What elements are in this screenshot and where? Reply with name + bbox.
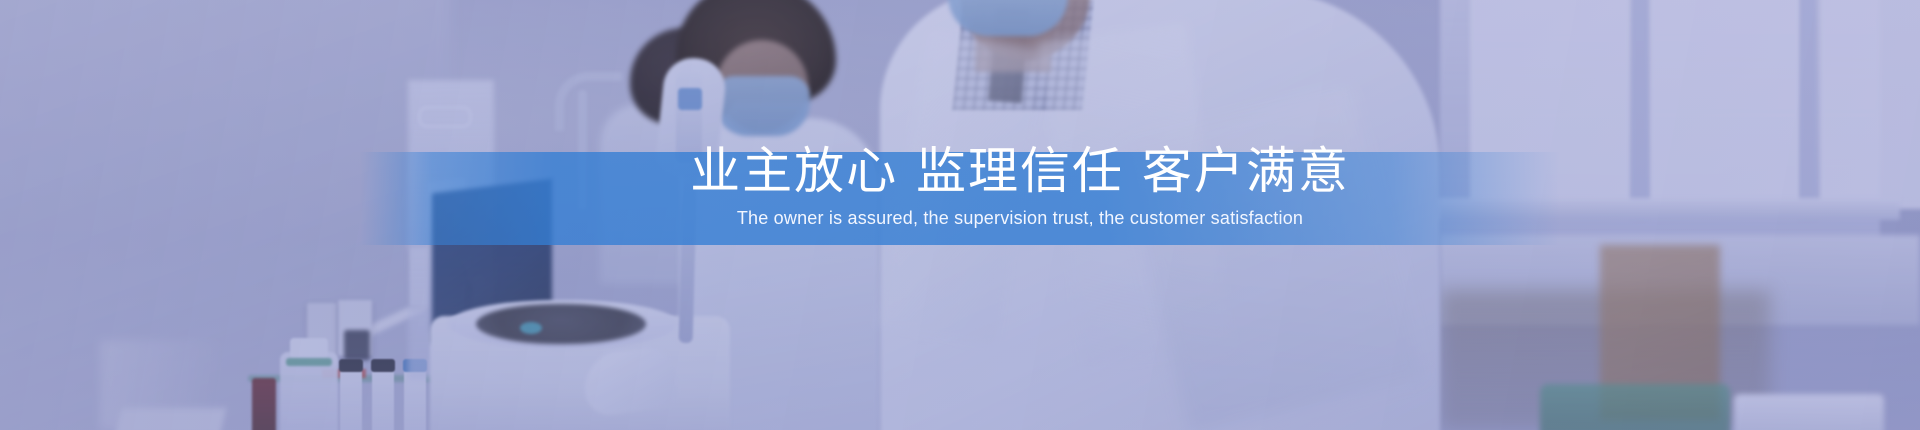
hero-banner: 业主放心 监理信任 客户满意 The owner is assured, the… xyxy=(0,0,1920,430)
headline-strip xyxy=(360,152,1560,245)
